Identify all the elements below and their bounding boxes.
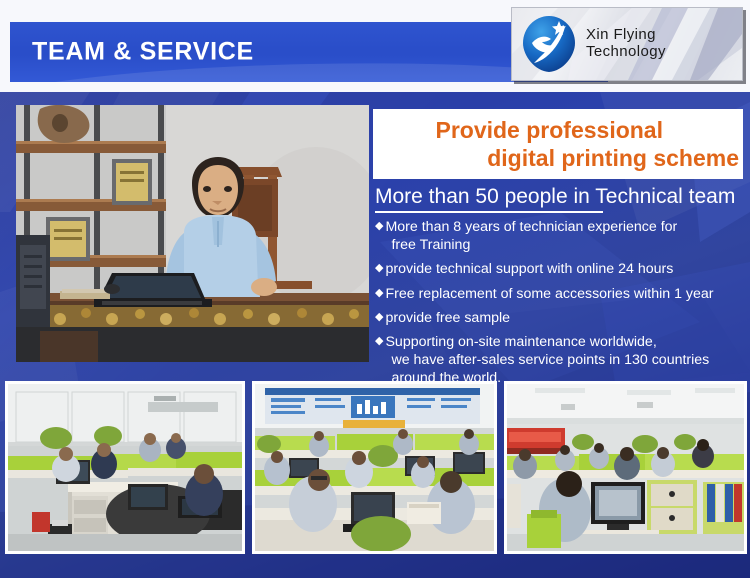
headline-line-2: digital printing scheme [373, 144, 739, 172]
diamond-bullet-icon: ◆ [375, 285, 383, 302]
diamond-bullet-icon: ◆ [375, 309, 383, 326]
diamond-bullet-icon: ◆ [375, 218, 383, 235]
flying-bird-star-icon [518, 13, 580, 75]
feature-bullet-list: ◆ More than 8 years of technician experi… [375, 218, 747, 393]
hero-photo-technician [16, 105, 369, 362]
list-item: ◆ Free replacement of some accessories w… [375, 285, 747, 303]
subtitle-underline [375, 211, 603, 213]
list-item: ◆ Supporting on-site maintenance worldwi… [375, 333, 747, 388]
gallery-photo-1 [5, 381, 245, 554]
list-item: ◆ provide technical support with online … [375, 260, 747, 278]
list-item-line-1: More than 8 years of technician experien… [385, 219, 677, 235]
diamond-bullet-icon: ◆ [375, 333, 383, 350]
headline: Provide professional digital printing sc… [373, 116, 743, 172]
gallery-photo-2 [252, 381, 497, 554]
list-item-line-2: we have after-sales service points in 13… [385, 351, 747, 369]
hero-photo-illustration [16, 105, 369, 362]
diamond-bullet-icon: ◆ [375, 260, 383, 277]
logo-name-line2: Technology [586, 43, 666, 60]
list-item-line-1: Free replacement of some accessories wit… [385, 286, 713, 302]
main-content-panel: Provide professional digital printing sc… [0, 92, 750, 578]
gallery-photo-2-inner [255, 384, 494, 551]
office-photo-printer-workstations [507, 384, 744, 551]
list-item-text: More than 8 years of technician experien… [385, 218, 747, 254]
headline-band: Provide professional digital printing sc… [373, 109, 743, 179]
company-logo: Xin Flying Technology [511, 7, 743, 81]
subtitle-block: More than 50 people in Technical team [375, 185, 745, 213]
list-item-text: Free replacement of some accessories wit… [385, 285, 747, 303]
list-item-line-2: free Training [385, 236, 747, 254]
list-item: ◆ More than 8 years of technician experi… [375, 218, 747, 254]
list-item-line-1: provide free sample [385, 310, 510, 326]
subtitle: More than 50 people in Technical team [375, 185, 745, 209]
logo-name-line1: Xin Flying [586, 26, 656, 43]
headline-line-1: Provide professional [373, 116, 739, 144]
list-item-text: provide technical support with online 24… [385, 260, 747, 278]
office-photo-gallery [0, 381, 750, 556]
office-photo-display-board [255, 384, 494, 551]
list-item-text: Supporting on-site maintenance worldwide… [385, 333, 747, 388]
gallery-photo-3-inner [507, 384, 744, 551]
logo-wordmark: Xin Flying Technology [586, 27, 666, 61]
list-item-line-1: provide technical support with online 24… [385, 261, 673, 277]
header-area: TEAM & SERVICE Xin [0, 0, 750, 92]
list-item: ◆ provide free sample [375, 309, 747, 327]
list-item-text: provide free sample [385, 309, 747, 327]
page-title: TEAM & SERVICE [32, 38, 254, 67]
office-photo-green-cubicles [8, 384, 242, 551]
list-item-line-1: Supporting on-site maintenance worldwide… [385, 334, 656, 350]
gallery-photo-3 [504, 381, 747, 554]
gallery-photo-1-inner [8, 384, 242, 551]
